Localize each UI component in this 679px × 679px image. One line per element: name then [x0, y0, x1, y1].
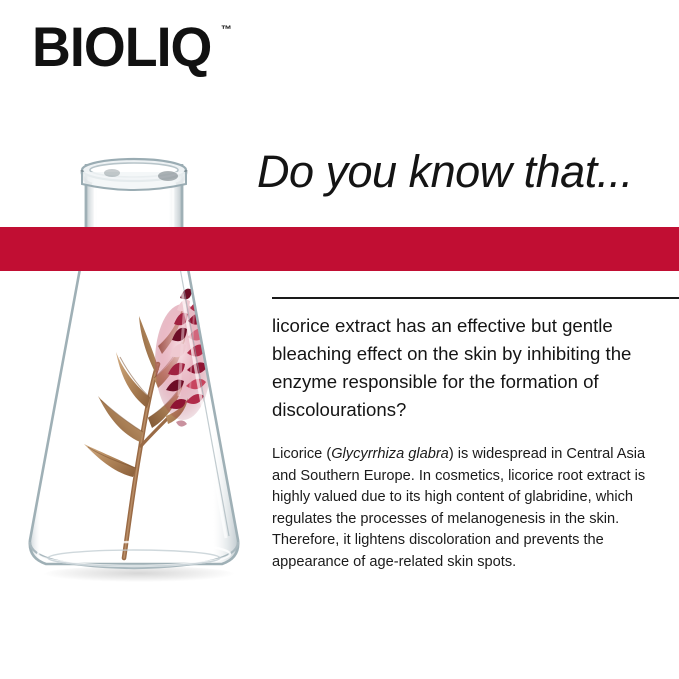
accent-band — [0, 227, 679, 271]
lead-paragraph: licorice extract has an effective but ge… — [272, 312, 674, 424]
brand-logo: BIOLIQ ™ — [32, 21, 232, 73]
divider — [272, 297, 679, 299]
page-title: Do you know that... — [257, 148, 677, 196]
species-name: Glycyrrhiza glabra — [331, 446, 449, 462]
detail-text-after: ) is widespread in Central Asia and Sout… — [272, 446, 645, 570]
detail-text-before: Licorice ( — [272, 446, 331, 462]
flask-glass — [30, 159, 238, 568]
detail-paragraph: Licorice (Glycyrrhiza glabra) is widespr… — [272, 444, 668, 573]
infographic-page: BIOLIQ ™ — [0, 0, 679, 679]
brand-name: BIOLIQ — [32, 21, 211, 73]
flask-illustration — [0, 150, 268, 620]
trademark-icon: ™ — [221, 25, 232, 36]
